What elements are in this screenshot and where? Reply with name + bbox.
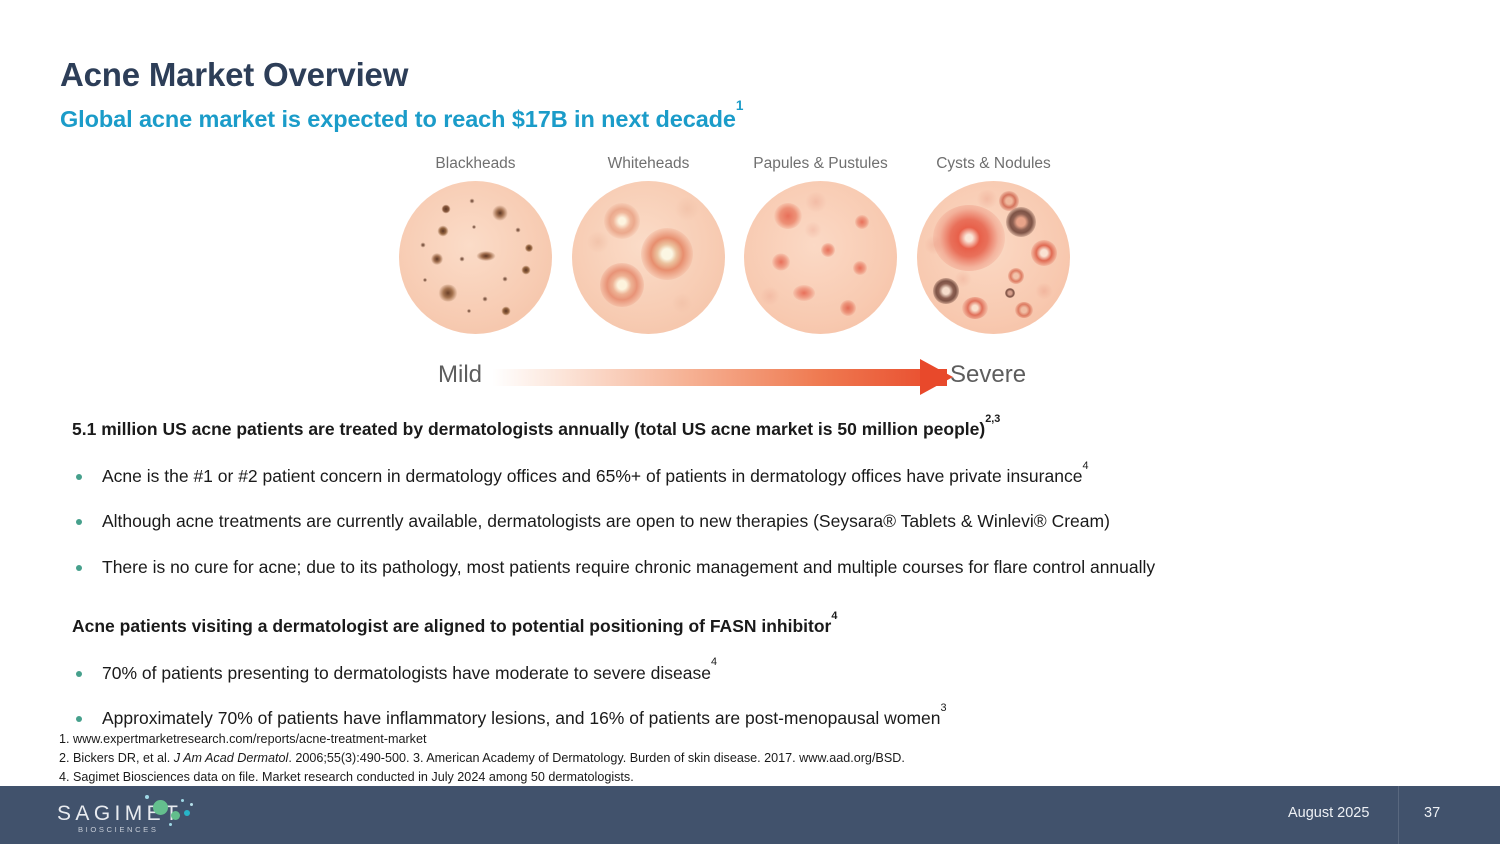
list-item: Approximately 70% of patients have infla… [72, 707, 1452, 730]
footer-divider [1398, 786, 1399, 844]
logo-dot-medium-green [171, 811, 180, 820]
bullet-text: Acne is the #1 or #2 patient concern in … [102, 466, 1088, 486]
footnote-line-3: 4. Sagimet Biosciences data on file. Mar… [59, 768, 905, 787]
logo-tagline: BIOSCIENCES [78, 825, 159, 834]
logo-dot-small-3 [190, 803, 193, 806]
bullet-body: Approximately 70% of patients have infla… [102, 708, 941, 728]
body-copy: 5.1 million US acne patients are treated… [72, 418, 1452, 730]
bullet-text: There is no cure for acne; due to its pa… [102, 557, 1155, 577]
bullet-body: Although acne treatments are currently a… [102, 511, 1110, 531]
severity-scale: Mild Severe [430, 355, 1050, 405]
panel-whiteheads: Whiteheads [571, 155, 726, 334]
panel-label-blackheads: Blackheads [398, 155, 553, 173]
scale-label-severe: Severe [950, 361, 1026, 389]
subtitle-text: Global acne market is expected to reach … [60, 106, 736, 132]
bullet-body: Acne is the #1 or #2 patient concern in … [102, 466, 1082, 486]
panel-label-whiteheads: Whiteheads [571, 155, 726, 173]
page-title: Acne Market Overview [60, 56, 408, 94]
severity-gradient-bar [492, 369, 947, 386]
bullet-text: Although acne treatments are currently a… [102, 511, 1110, 531]
section-2-heading-text: Acne patients visiting a dermatologist a… [72, 616, 831, 636]
section-1-heading: 5.1 million US acne patients are treated… [72, 418, 1452, 442]
bullet-dot-icon [76, 716, 82, 722]
sagimet-logo: SAGIMET BIOSCIENCES [57, 799, 227, 837]
list-item: 70% of patients presenting to dermatolog… [72, 662, 1452, 685]
bullet-dot-icon [76, 474, 82, 480]
bullet-dot-icon [76, 671, 82, 677]
bullet-superscript: 4 [1082, 460, 1088, 472]
section-2-heading: Acne patients visiting a dermatologist a… [72, 615, 1452, 639]
footnotes: 1. www.expertmarketresearch.com/reports/… [59, 730, 905, 787]
panel-papules-pustules: Papules & Pustules [743, 155, 898, 334]
bullet-text: Approximately 70% of patients have infla… [102, 708, 947, 728]
bullet-superscript: 4 [711, 656, 717, 668]
skin-circle-blackheads [399, 181, 552, 334]
bullet-dot-icon [76, 565, 82, 571]
section-1-heading-text: 5.1 million US acne patients are treated… [72, 419, 985, 439]
list-item: There is no cure for acne; due to its pa… [72, 556, 1452, 579]
bullet-body: There is no cure for acne; due to its pa… [102, 557, 1155, 577]
slide: Acne Market Overview Global acne market … [0, 0, 1500, 844]
bullet-superscript: 3 [941, 702, 947, 714]
page-subtitle: Global acne market is expected to reach … [60, 106, 743, 133]
skin-circle-papules-pustules [744, 181, 897, 334]
footnote-line-2: 2. Bickers DR, et al. J Am Acad Dermatol… [59, 749, 905, 768]
logo-dot-small-1 [145, 795, 149, 799]
arrow-right-icon [920, 359, 953, 395]
logo-dot-small-4 [169, 823, 172, 826]
footnote-line-1: 1. www.expertmarketresearch.com/reports/… [59, 730, 905, 749]
logo-dot-small-2 [181, 799, 184, 802]
section-1: 5.1 million US acne patients are treated… [72, 418, 1452, 579]
scale-label-mild: Mild [438, 361, 482, 389]
panel-cysts-nodules: Cysts & Nodules [916, 155, 1071, 334]
subtitle-superscript: 1 [736, 98, 743, 113]
section-2: Acne patients visiting a dermatologist a… [72, 615, 1452, 730]
panel-label-cysts-nodules: Cysts & Nodules [916, 155, 1071, 173]
footnote-2-prefix: 2. Bickers DR, et al. [59, 751, 174, 765]
bullet-body: 70% of patients presenting to dermatolog… [102, 663, 711, 683]
list-item: Although acne treatments are currently a… [72, 510, 1452, 533]
logo-dot-teal [184, 810, 190, 816]
footer-bar: SAGIMET BIOSCIENCES August 2025 37 [0, 786, 1500, 844]
bullet-dot-icon [76, 519, 82, 525]
list-item: Acne is the #1 or #2 patient concern in … [72, 465, 1452, 488]
panel-blackheads: Blackheads [398, 155, 553, 334]
panel-label-papules-pustules: Papules & Pustules [743, 155, 898, 173]
footer-page-number: 37 [1424, 805, 1440, 821]
footnote-2-suffix: . 2006;55(3):490-500. 3. American Academ… [288, 751, 905, 765]
section-2-bullets: 70% of patients presenting to dermatolog… [72, 662, 1452, 731]
logo-dot-large-green [153, 800, 168, 815]
section-2-heading-superscript: 4 [831, 610, 837, 622]
footer-date: August 2025 [1288, 805, 1369, 821]
bullet-text: 70% of patients presenting to dermatolog… [102, 663, 717, 683]
footnote-2-journal: J Am Acad Dermatol [174, 751, 289, 765]
section-1-heading-superscript: 2,3 [985, 413, 1000, 425]
skin-circle-whiteheads [572, 181, 725, 334]
skin-circle-cysts-nodules [917, 181, 1070, 334]
section-1-bullets: Acne is the #1 or #2 patient concern in … [72, 465, 1452, 579]
